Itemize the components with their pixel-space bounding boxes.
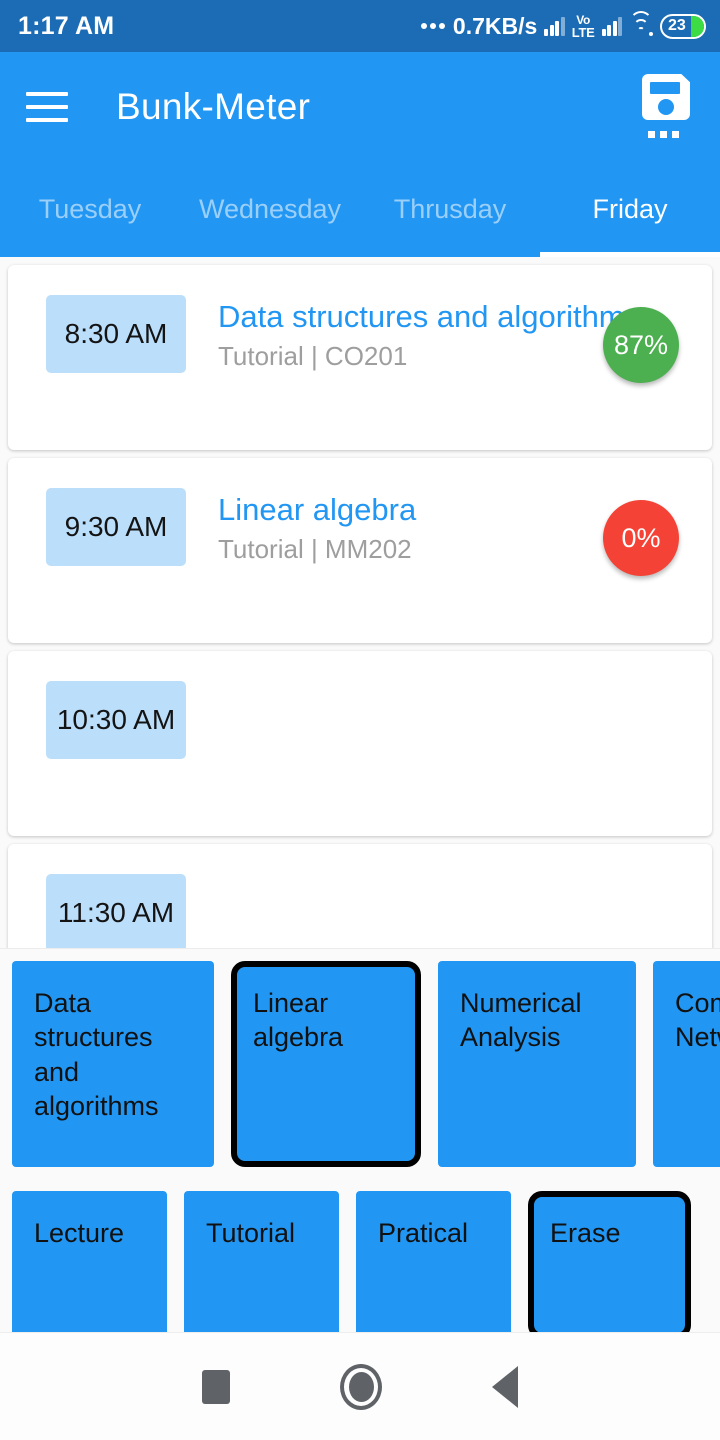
time-chip: 10:30 AM: [46, 681, 186, 759]
subject-chip-data-structures[interactable]: Data structures and algorithms: [12, 961, 214, 1167]
tab-label: Friday: [592, 194, 667, 225]
signal-strength-sim2-icon: [602, 16, 623, 36]
tab-label: Wednesday: [199, 194, 341, 225]
android-navigation-bar: [0, 1332, 720, 1440]
battery-level-label: 23: [662, 17, 686, 35]
schedule-row[interactable]: 10:30 AM: [8, 651, 712, 836]
tab-label: Thrusday: [394, 194, 507, 225]
subject-chip-row[interactable]: Data structures and algorithms Linear al…: [0, 949, 720, 1167]
phone-screen: 1:17 AM 0.7KB/s Vo LTE 23 Bunk-Meter: [0, 0, 720, 1440]
volte-icon: Vo LTE: [572, 14, 595, 39]
network-speed-label: 0.7KB/s: [453, 13, 537, 40]
class-type-chip-pratical[interactable]: Pratical: [356, 1191, 511, 1332]
status-bar-clock: 1:17 AM: [18, 12, 114, 41]
subject-chip-numerical-analysis[interactable]: Numerical Analysis: [438, 961, 636, 1167]
subject-chip-computer-networks[interactable]: Computer Networks: [653, 961, 720, 1167]
tab-friday[interactable]: Friday: [540, 162, 720, 257]
status-bar-indicators: 0.7KB/s Vo LTE 23: [421, 13, 706, 40]
triangle-back-icon[interactable]: [492, 1366, 518, 1408]
class-type-chip-lecture[interactable]: Lecture: [12, 1191, 167, 1332]
network-activity-dots-icon: [421, 23, 445, 29]
subject-chip-linear-algebra[interactable]: Linear algebra: [231, 961, 421, 1167]
schedule-details: [218, 681, 712, 683]
time-chip: 9:30 AM: [46, 488, 186, 566]
tab-thrusday[interactable]: Thrusday: [360, 162, 540, 257]
day-tabs: Tuesday Wednesday Thrusday Friday: [0, 162, 720, 257]
class-type-chip-erase[interactable]: Erase: [528, 1191, 691, 1332]
circle-home-icon[interactable]: [340, 1364, 382, 1410]
class-type-chip-row[interactable]: Lecture Tutorial Pratical Erase: [0, 1167, 720, 1332]
attendance-badge: 0%: [603, 500, 679, 576]
attendance-badge: 87%: [603, 307, 679, 383]
tab-tuesday[interactable]: Tuesday: [0, 162, 180, 257]
volte-top-label: Vo: [576, 14, 590, 26]
wifi-icon: [629, 17, 653, 36]
save-floppy-disk-icon[interactable]: [638, 74, 694, 140]
tab-label: Tuesday: [39, 194, 142, 225]
square-recents-icon[interactable]: [202, 1370, 230, 1404]
time-chip: 11:30 AM: [46, 874, 186, 952]
schedule-row[interactable]: 8:30 AM Data structures and algorithms T…: [8, 265, 712, 450]
volte-bottom-label: LTE: [572, 26, 595, 39]
schedule-details: [218, 874, 712, 876]
app-bar: Bunk-Meter: [0, 52, 720, 162]
class-type-chip-tutorial[interactable]: Tutorial: [184, 1191, 339, 1332]
schedule-row[interactable]: 9:30 AM Linear algebra Tutorial | MM202 …: [8, 458, 712, 643]
battery-icon: 23: [660, 14, 706, 39]
time-chip: 8:30 AM: [46, 295, 186, 373]
tab-wednesday[interactable]: Wednesday: [180, 162, 360, 257]
subject-picker-sheet: Data structures and algorithms Linear al…: [0, 948, 720, 1332]
signal-strength-sim1-icon: [544, 16, 565, 36]
status-bar: 1:17 AM 0.7KB/s Vo LTE 23: [0, 0, 720, 52]
page-title: Bunk-Meter: [116, 86, 310, 128]
hamburger-menu-icon[interactable]: [26, 92, 68, 122]
